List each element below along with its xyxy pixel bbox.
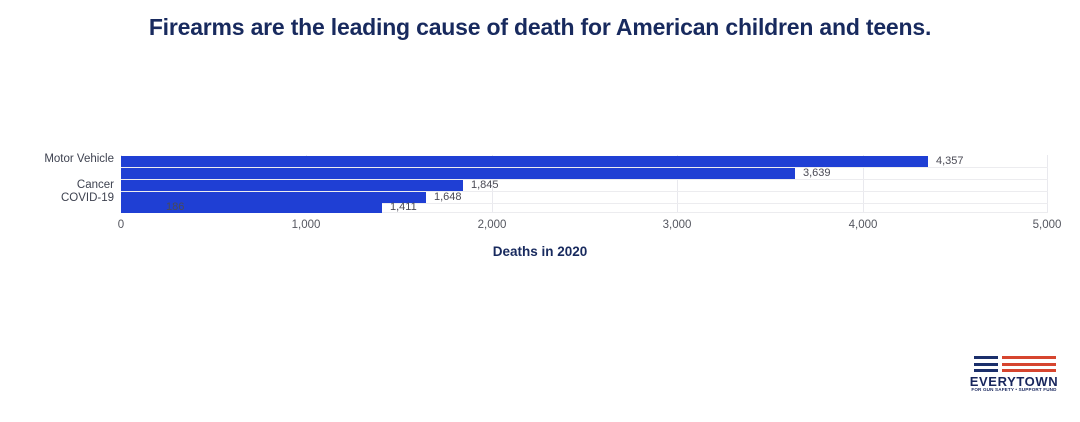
bar-motor-vehicle[interactable] xyxy=(121,156,928,167)
table-row[interactable]: 1,845 xyxy=(121,180,463,191)
everytown-logo: EVERYTOWN FOR GUN SAFETY • SUPPORT FUND xyxy=(968,356,1060,396)
logo-stripes-icon xyxy=(974,356,1056,372)
bar-firearms[interactable] xyxy=(121,168,795,179)
bar-covid-19[interactable] xyxy=(121,202,155,213)
x-axis-title: Deaths in 2020 xyxy=(0,244,1080,259)
x-tick-0: 0 xyxy=(118,219,124,231)
x-tick-3000: 3,000 xyxy=(663,219,692,231)
logo-red-stripes-icon xyxy=(1002,356,1056,372)
x-tick-5000: 5,000 xyxy=(1033,219,1062,231)
x-tick-2000: 2,000 xyxy=(478,219,507,231)
table-row[interactable]: 3,639 xyxy=(121,168,795,179)
bar-value-label: 3,639 xyxy=(803,167,831,179)
bar-value-label: 4,357 xyxy=(936,155,964,167)
plot-area: 4,357 3,639 1,845 1,648 1,411 186 xyxy=(121,155,1048,213)
x-tick-4000: 4,000 xyxy=(849,219,878,231)
gridline-5000 xyxy=(1047,155,1048,213)
bar-value-label: 1,648 xyxy=(434,191,462,203)
bar-value-label: 1,845 xyxy=(471,179,499,191)
logo-tagline: FOR GUN SAFETY • SUPPORT FUND xyxy=(968,387,1060,392)
bar-value-label: 1,411 xyxy=(390,201,417,213)
table-row[interactable]: 4,357 xyxy=(121,156,928,167)
table-row[interactable]: 1,411 xyxy=(121,202,382,213)
bar-chart: 4,357 3,639 1,845 1,648 1,411 186 xyxy=(0,150,1080,220)
x-axis: 0 1,000 2,000 3,000 4,000 5,000 xyxy=(0,219,1080,239)
bar-value-label: 186 xyxy=(166,201,184,213)
bar-drug-overdose[interactable] xyxy=(121,202,382,213)
x-tick-1000: 1,000 xyxy=(292,219,321,231)
page-title: Firearms are the leading cause of death … xyxy=(0,14,1080,41)
logo-blue-stripes-icon xyxy=(974,356,998,372)
table-row[interactable]: 186 xyxy=(121,202,155,213)
bar-cancer[interactable] xyxy=(121,180,463,191)
